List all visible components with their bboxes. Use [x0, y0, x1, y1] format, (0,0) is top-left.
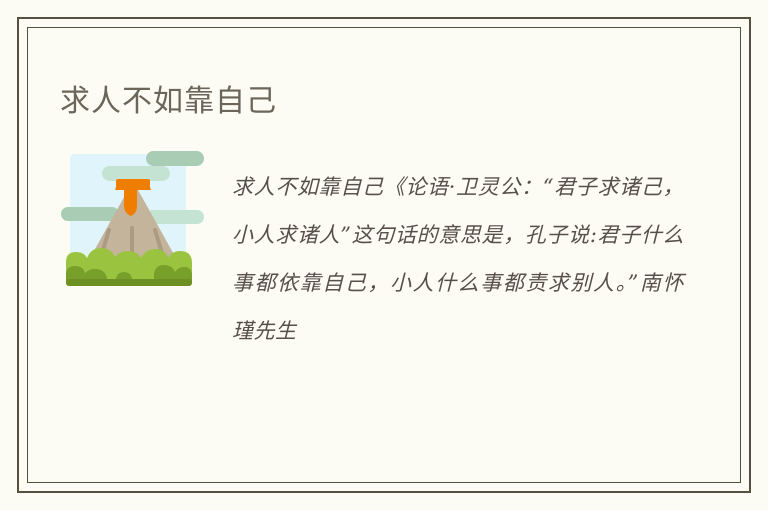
article-card: 求人不如靠自己 — [0, 0, 768, 510]
article-body: 求人不如靠自己《论语·卫灵公：“君子求诸己，小人求诸人”这句话的意思是，孔子说:… — [232, 163, 684, 355]
card-content: 求人不如靠自己 — [0, 0, 768, 510]
lava-flow — [124, 186, 137, 216]
lava-crater-top — [116, 179, 150, 187]
ground-bar — [66, 279, 192, 286]
volcano-illustration — [58, 148, 208, 298]
page-title: 求人不如靠自己 — [60, 83, 277, 121]
cloud-top-right — [146, 151, 204, 166]
cloud-middle-left — [61, 207, 119, 221]
cloud-top-left — [102, 166, 170, 181]
